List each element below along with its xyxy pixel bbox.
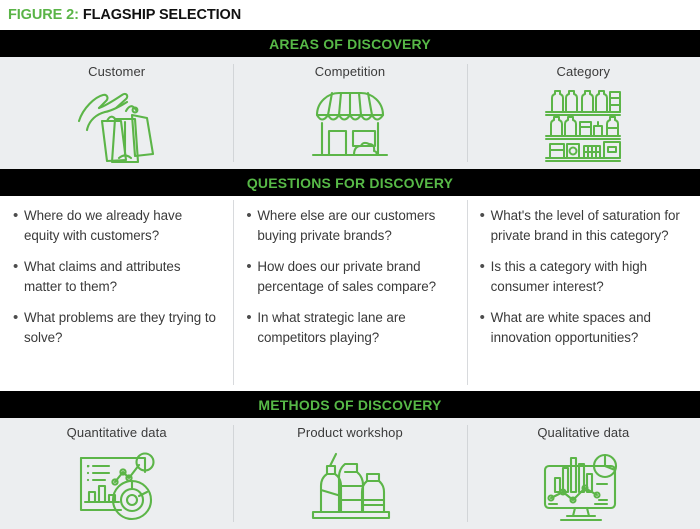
list-item: • What claims and attributes matter to t… [10,257,219,297]
methods-of-discovery-band: METHODS OF DISCOVERY [0,391,700,418]
list-item: • In what strategic lane are competitors… [243,308,452,348]
list-item: • What are white spaces and innovation o… [477,308,686,348]
question-text: What claims and attributes matter to the… [24,257,219,297]
list-item: • What problems are they trying to solve… [10,308,219,348]
bullet-icon: • [477,257,491,277]
questions-column-competition: • Where else are our customers buying pr… [233,196,466,391]
questions-row: • Where do we already have equity with c… [0,196,700,391]
methods-of-discovery-row: Quantitative data [0,418,700,529]
figure-container: FIGURE 2: FLAGSHIP SELECTION AREAS OF DI… [0,0,700,529]
methods-column-qualitative: Qualitative data [467,418,700,529]
bullet-icon: • [10,257,24,277]
question-text: What are white spaces and innovation opp… [491,308,686,348]
bullet-icon: • [10,308,24,328]
methods-column-label-quantitative: Quantitative data [67,425,167,440]
areas-column-label-category: Category [557,64,611,79]
list-item: • Is this a category with high consumer … [477,257,686,297]
methods-of-discovery-band-title: METHODS OF DISCOVERY [258,397,441,413]
questions-for-discovery-band-title: QUESTIONS FOR DISCOVERY [247,175,453,191]
areas-column-label-competition: Competition [315,64,385,79]
question-text: Is this a category with high consumer in… [491,257,686,297]
question-text: Where else are our customers buying priv… [257,206,452,246]
bullet-icon: • [10,206,24,226]
bullet-icon: • [243,308,257,328]
question-text: In what strategic lane are competitors p… [257,308,452,348]
questions-for-discovery-band: QUESTIONS FOR DISCOVERY [0,169,700,196]
questions-column-customer: • Where do we already have equity with c… [0,196,233,391]
methods-column-label-qualitative: Qualitative data [537,425,629,440]
methods-column-quantitative: Quantitative data [0,418,233,529]
list-item: • What's the level of saturation for pri… [477,206,686,246]
list-item: • Where do we already have equity with c… [10,206,219,246]
list-item: • How does our private brand percentage … [243,257,452,297]
question-text: How does our private brand percentage of… [257,257,452,297]
areas-of-discovery-band: AREAS OF DISCOVERY [0,30,700,57]
areas-column-category: Category [467,57,700,169]
bullet-icon: • [477,308,491,328]
questions-column-category: • What's the level of saturation for pri… [467,196,700,391]
monitor-charts-icon [467,442,700,529]
areas-of-discovery-band-title: AREAS OF DISCOVERY [269,36,431,52]
storefront-icon [233,81,466,169]
methods-column-product-workshop: Product workshop [233,418,466,529]
figure-number-label: FIGURE 2: [8,7,79,23]
bullet-icon: • [243,257,257,277]
list-item: • Where else are our customers buying pr… [243,206,452,246]
question-text: What problems are they trying to solve? [24,308,219,348]
page-title: FLAGSHIP SELECTION [83,7,241,23]
question-text: Where do we already have equity with cus… [24,206,219,246]
analytics-dashboard-icon [0,442,233,529]
bottles-icon [233,442,466,529]
bullet-icon: • [477,206,491,226]
areas-column-label-customer: Customer [88,64,145,79]
methods-column-label-product-workshop: Product workshop [297,425,403,440]
figure-title-bar: FIGURE 2: FLAGSHIP SELECTION [0,0,700,30]
bullet-icon: • [243,206,257,226]
areas-of-discovery-row: Customer [0,57,700,169]
shopping-bags-icon [0,81,233,169]
areas-column-competition: Competition [233,57,466,169]
question-text: What's the level of saturation for priva… [491,206,686,246]
product-shelf-icon [467,81,700,169]
areas-column-customer: Customer [0,57,233,169]
